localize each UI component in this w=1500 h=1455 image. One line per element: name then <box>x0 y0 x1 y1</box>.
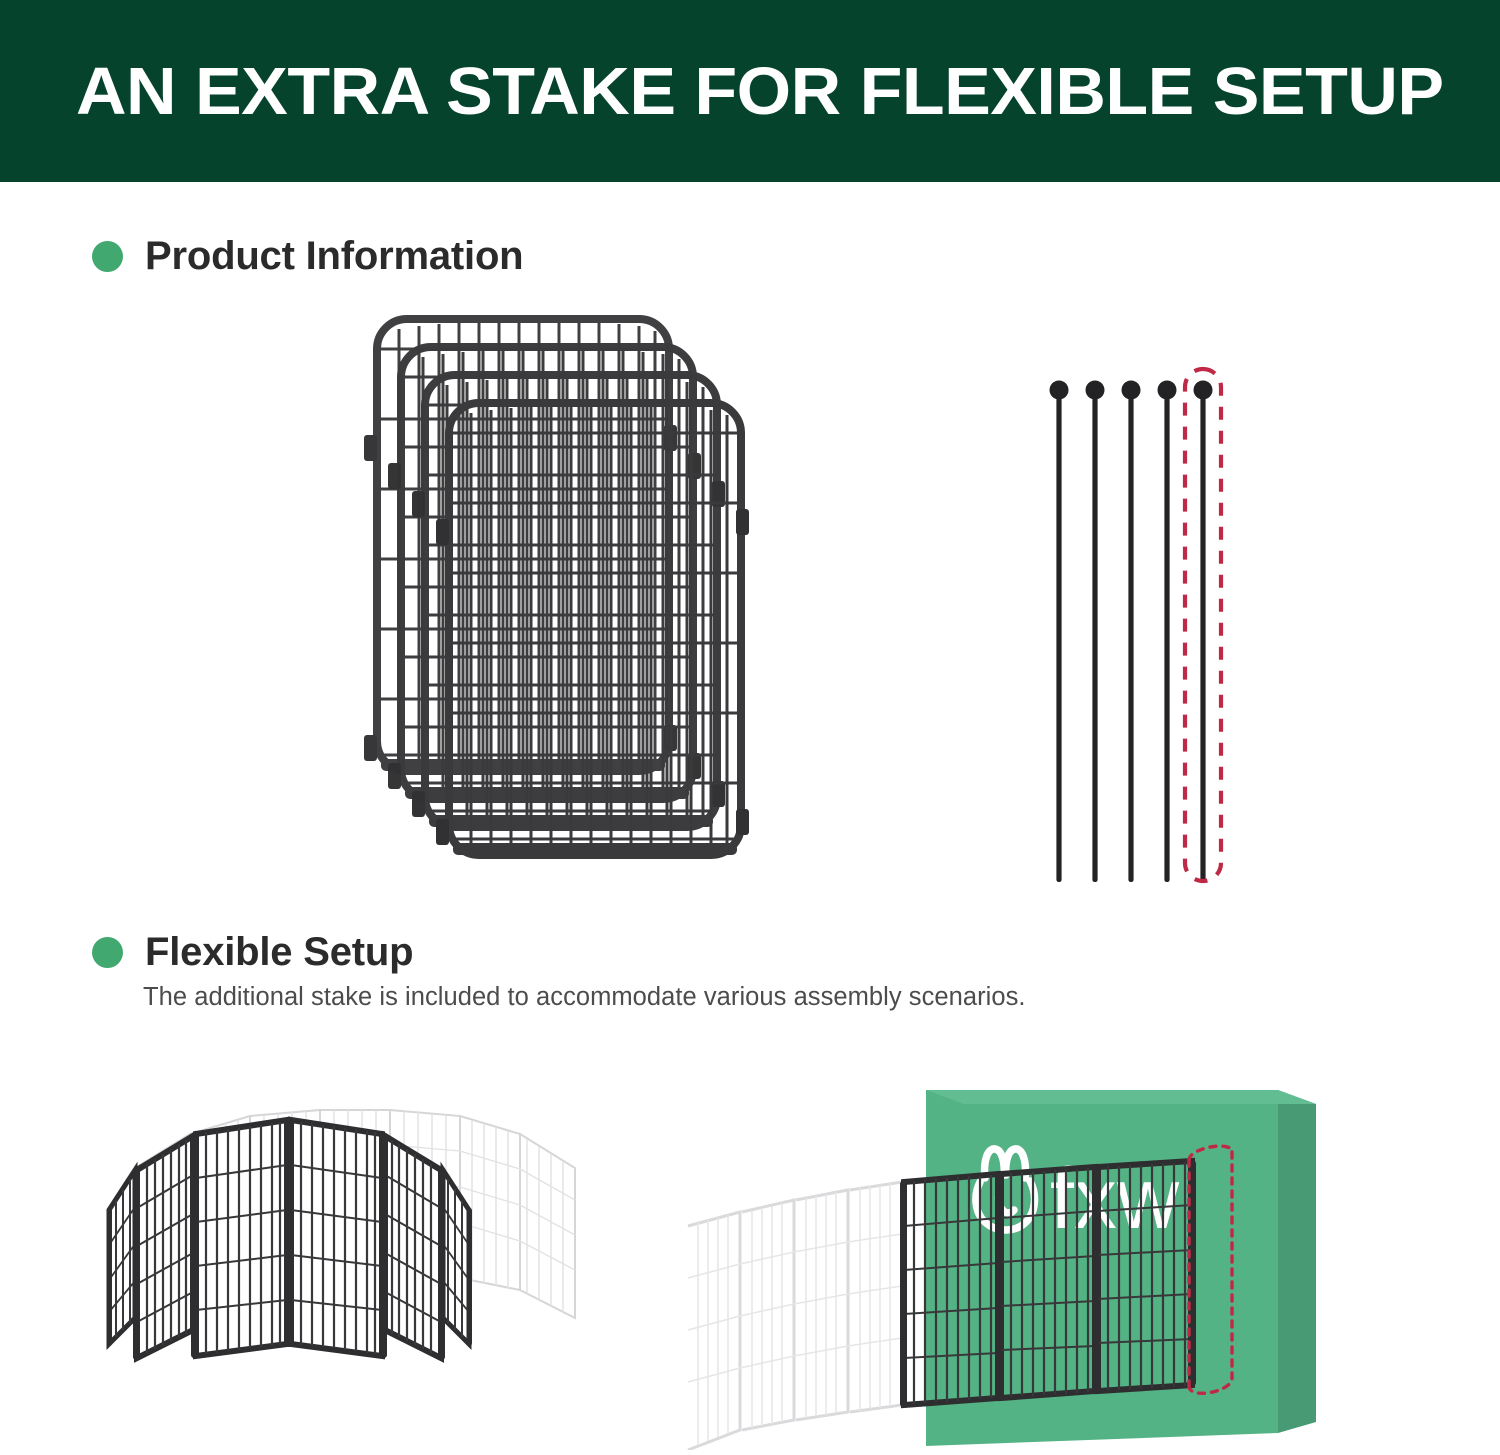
stake-3 <box>1122 381 1141 883</box>
pen-panel-front-right <box>385 1136 441 1358</box>
section-heading-flexible-setup: Flexible Setup <box>92 930 413 975</box>
page-title: AN EXTRA STAKE FOR FLEXIBLE SETUP <box>76 58 1444 125</box>
ground-stakes-illustration <box>1020 360 1270 895</box>
stake-1 <box>1050 381 1069 883</box>
pen-panel-front-left-mid <box>196 1120 287 1356</box>
pen-panel-front-right-mid <box>291 1120 382 1356</box>
pen-panel-front-left <box>137 1136 193 1358</box>
bullet-dot-icon <box>92 241 123 272</box>
stacked-fence-panels-illustration <box>355 305 825 890</box>
fence-against-wall-illustration: fxw <box>680 1078 1380 1455</box>
stake-5-highlighted <box>1185 369 1221 882</box>
stake-2 <box>1086 381 1105 883</box>
pen-panel-wing-right <box>443 1170 469 1344</box>
section-description-flexible-setup: The additional stake is included to acco… <box>143 983 1026 1012</box>
header-banner: AN EXTRA STAKE FOR FLEXIBLE SETUP <box>0 0 1500 182</box>
bullet-dot-icon <box>92 937 123 968</box>
pen-panel-wing-left <box>109 1170 135 1344</box>
fence-run-rear <box>688 1182 902 1450</box>
stake-4 <box>1158 381 1177 883</box>
section-heading-product-information: Product Information <box>92 234 523 279</box>
section-label-flexible-setup: Flexible Setup <box>145 930 413 975</box>
octagonal-playpen-illustration <box>95 1090 615 1445</box>
section-label-product-information: Product Information <box>145 234 523 279</box>
